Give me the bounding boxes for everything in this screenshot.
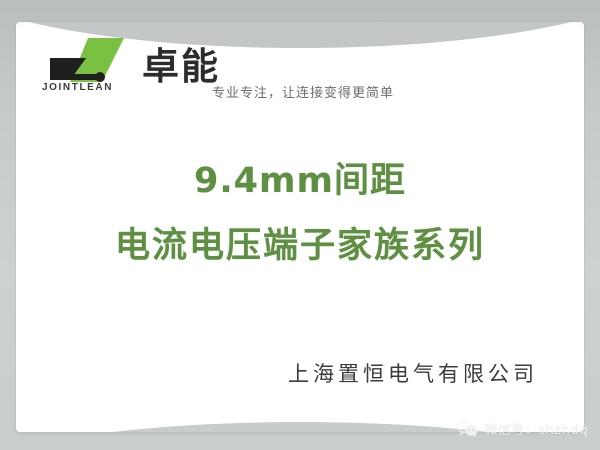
brand-tagline: 专业专注，让连接变得更简单: [212, 82, 394, 101]
brand-header: JOINTLEAN 卓能: [40, 36, 220, 92]
title-line-1: 9.4mm间距: [16, 162, 584, 201]
title-block: 9.4mm间距 电流电压端子家族系列: [16, 162, 584, 265]
slide-screen: JOINTLEAN 卓能 专业专注，让连接变得更简单 9.4mm间距 电流电压端…: [0, 0, 600, 450]
title-line-2: 电流电压端子家族系列: [16, 227, 584, 266]
jointlean-logo-icon: JOINTLEAN: [40, 36, 136, 92]
logo-wordmark: JOINTLEAN: [42, 82, 113, 93]
wechat-id-text: 微信号：shzhdq: [484, 419, 588, 438]
wechat-watermark: 微信号：shzhdq: [457, 419, 588, 438]
wechat-icon: [457, 420, 479, 438]
company-name: 上海置恒电气有限公司: [288, 358, 538, 388]
brand-name-cn: 卓能: [142, 48, 220, 85]
presentation-slide: JOINTLEAN 卓能 专业专注，让连接变得更简单 9.4mm间距 电流电压端…: [16, 22, 584, 432]
